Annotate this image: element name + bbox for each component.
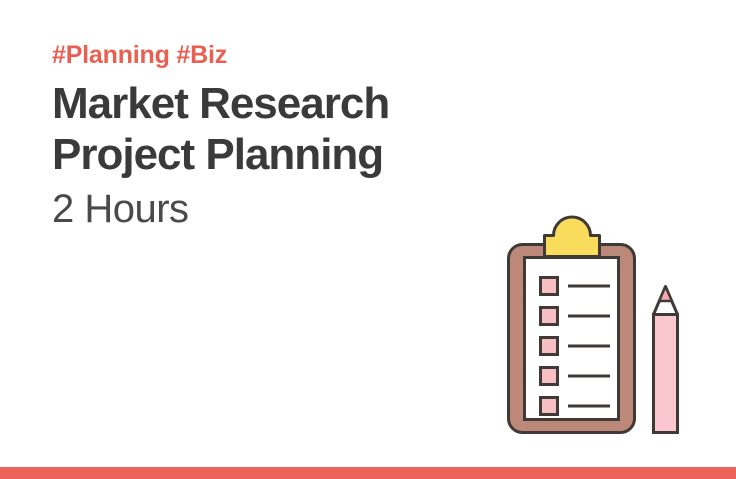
tagline: #Planning #Biz [52,42,492,70]
clipboard-checklist-illustration [496,214,696,444]
checkbox-5 [541,398,558,415]
text-block: #Planning #Biz Market Research Project P… [52,42,492,233]
page-title-line-1: Market Research [52,78,492,130]
checkbox-2 [541,308,558,325]
page-title-line-2: Project Planning [52,129,492,181]
checkbox-1 [541,278,558,295]
bottom-accent-bar [0,467,736,479]
checkbox-4 [541,368,558,385]
pencil-lead [659,287,672,302]
pencil-body [654,315,678,433]
duration-subtitle: 2 Hours [52,185,492,233]
checkbox-3 [541,338,558,355]
page-title: Market Research Project Planning [52,78,492,182]
clipboard-paper [525,258,619,420]
clipboard-clip [545,217,600,256]
promo-card: #Planning #Biz Market Research Project P… [0,0,736,479]
